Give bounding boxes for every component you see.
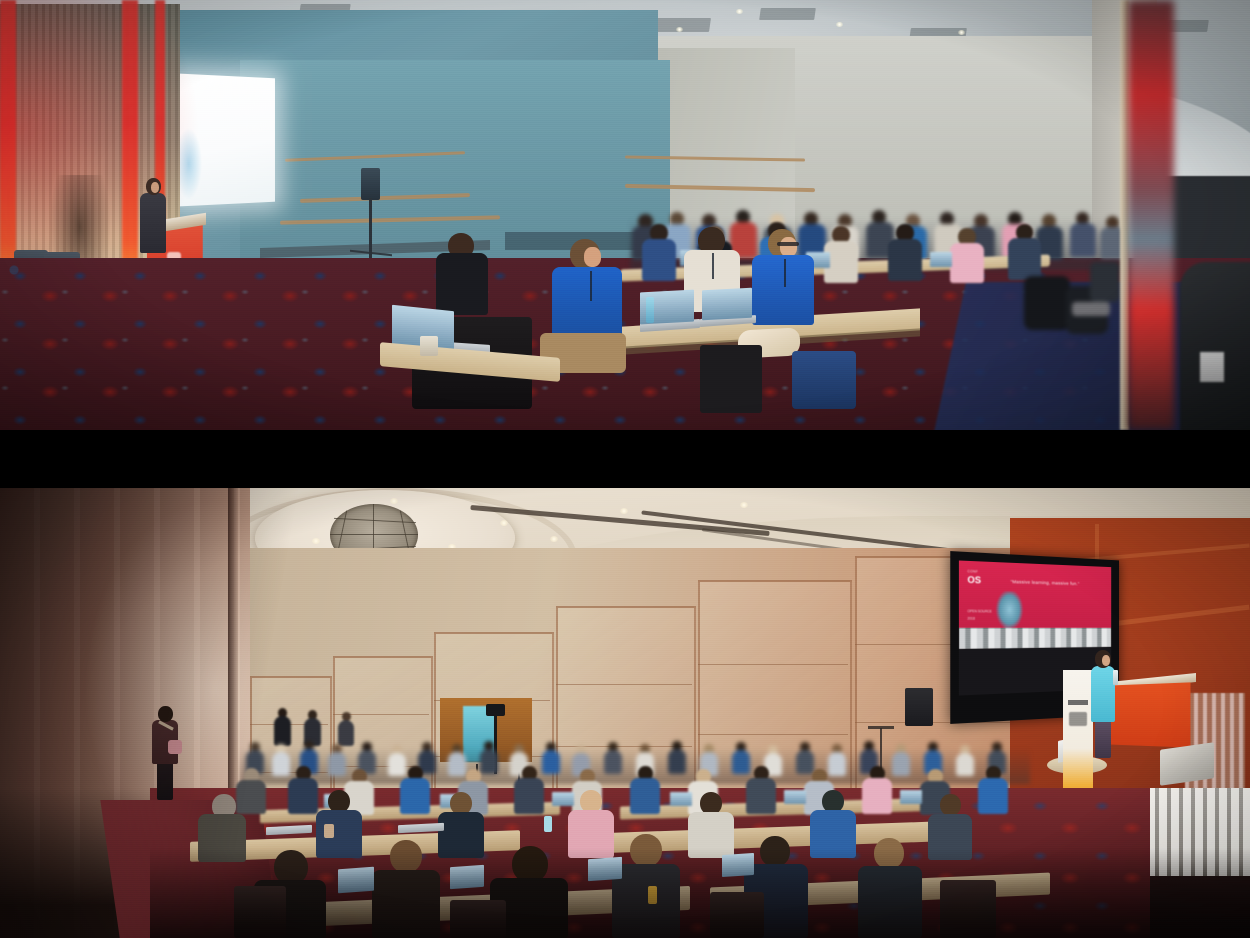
conference-photo-strip	[959, 628, 1111, 649]
presenter-face	[151, 182, 159, 193]
aisle-bags-group	[1020, 240, 1130, 360]
black-separator-band	[0, 430, 1250, 488]
presenter-torso	[1091, 666, 1115, 722]
slide-logo: OS	[967, 576, 994, 586]
presenter-torso	[140, 193, 166, 253]
laptop-on-stage-table	[1160, 742, 1214, 786]
pa-speaker	[905, 688, 933, 726]
presenter-at-podium	[140, 178, 166, 252]
lectern	[1109, 682, 1190, 747]
water-bottle	[1113, 670, 1118, 685]
left-side-shadow	[0, 488, 420, 938]
speaker-stand-pole	[369, 198, 372, 260]
banner-logo	[1069, 712, 1087, 726]
downlight	[958, 30, 965, 35]
banner-rule	[1068, 700, 1088, 705]
presenter	[1091, 650, 1115, 756]
downlight	[736, 9, 743, 14]
photo-composite: CONF OS “Massive learning, massive fun.”…	[0, 0, 1250, 938]
presenter-face	[1102, 655, 1110, 666]
foreground-bag	[1180, 262, 1250, 430]
floor-speaker	[361, 168, 380, 200]
slide-side-text-1: OPEN SOURCE	[967, 609, 992, 614]
ceiling-vent	[759, 8, 816, 20]
slide-background	[959, 561, 1111, 628]
coffee-cup	[420, 336, 438, 356]
bottom-photograph: CONF OS “Massive learning, massive fun.”…	[0, 488, 1250, 938]
downlight	[676, 27, 683, 32]
presenter-legs	[1095, 720, 1111, 758]
slide-logo-superscript: CONF	[967, 569, 978, 574]
slide-side-text-2: 2018	[967, 616, 974, 621]
top-photograph	[0, 0, 1250, 430]
red-pillar-blur	[1128, 0, 1174, 430]
attendee-foreground-left	[380, 250, 560, 430]
downlight	[836, 22, 843, 27]
bag-tag	[1200, 352, 1224, 382]
